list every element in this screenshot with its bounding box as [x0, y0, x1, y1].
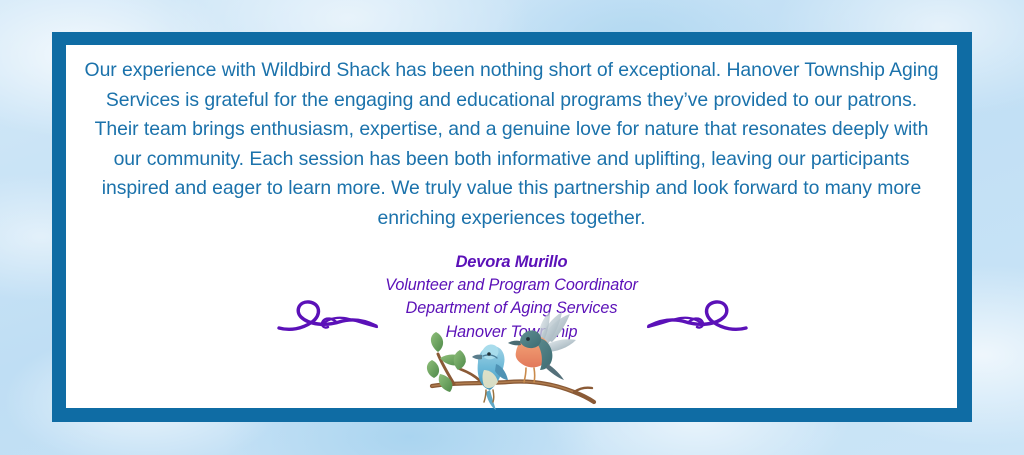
certificate-card: Our experience with Wildbird Shack has b…	[66, 45, 957, 408]
attribution-role: Volunteer and Program Coordinator	[66, 274, 957, 298]
testimonial-quote: Our experience with Wildbird Shack has b…	[66, 45, 957, 234]
attribution-name: Devora Murillo	[66, 251, 957, 274]
flourish-swirl-right-icon	[645, 295, 749, 341]
flourish-swirl-left-icon	[276, 295, 380, 341]
certificate-frame: Our experience with Wildbird Shack has b…	[52, 32, 972, 422]
birds-on-branch-icon	[424, 306, 600, 410]
testimonial-page: Our experience with Wildbird Shack has b…	[0, 0, 1024, 455]
